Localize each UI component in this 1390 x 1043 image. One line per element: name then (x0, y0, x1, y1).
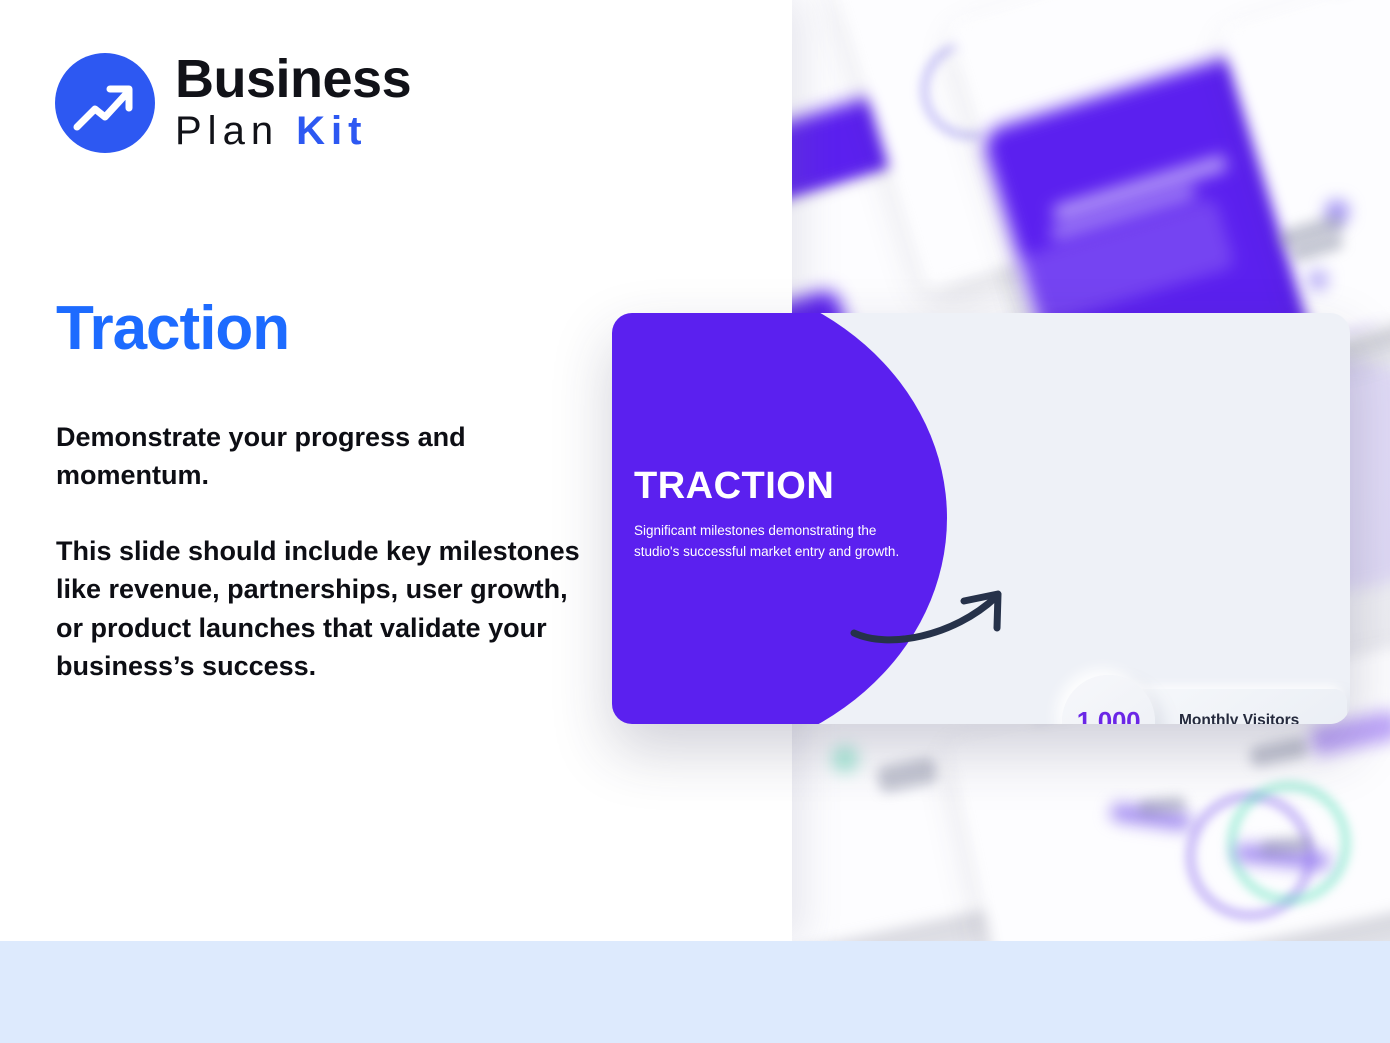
slide-subtitle: Significant milestones demonstrating the… (634, 521, 909, 562)
page-title: Traction (56, 296, 289, 361)
growth-arrow-circle-icon (55, 53, 155, 153)
slide-preview-card[interactable]: TRACTION Significant milestones demonstr… (612, 313, 1350, 724)
slide-template-preview: Business Plan Kit Traction Demonstrate y… (0, 0, 1390, 1043)
footer-band (0, 941, 1390, 1043)
body-paragraph: This slide should include key milestones… (56, 532, 596, 685)
stat-value-circle: 1,000 (1062, 675, 1155, 724)
brand-name-line2: Plan Kit (175, 109, 411, 153)
stat-label-pill: Monthly Visitors (1127, 689, 1347, 725)
curved-up-right-arrow-icon (848, 581, 1018, 656)
slide-heading-group: TRACTION Significant milestones demonstr… (634, 467, 909, 562)
stat-row[interactable]: 1,000 Monthly Visitors (1062, 675, 1347, 724)
brand-wordmark: Business Plan Kit (175, 52, 411, 153)
stat-value: 1,000 (1077, 706, 1141, 724)
stat-label: Monthly Visitors (1179, 711, 1299, 724)
lead-paragraph: Demonstrate your progress and momentum. (56, 418, 596, 495)
brand-name-plan: Plan (175, 109, 296, 153)
slide-heading: TRACTION (634, 467, 909, 505)
brand-name-line1: Business (175, 52, 411, 107)
brand-name-kit: Kit (296, 109, 367, 153)
brand-logo: Business Plan Kit (55, 52, 411, 153)
